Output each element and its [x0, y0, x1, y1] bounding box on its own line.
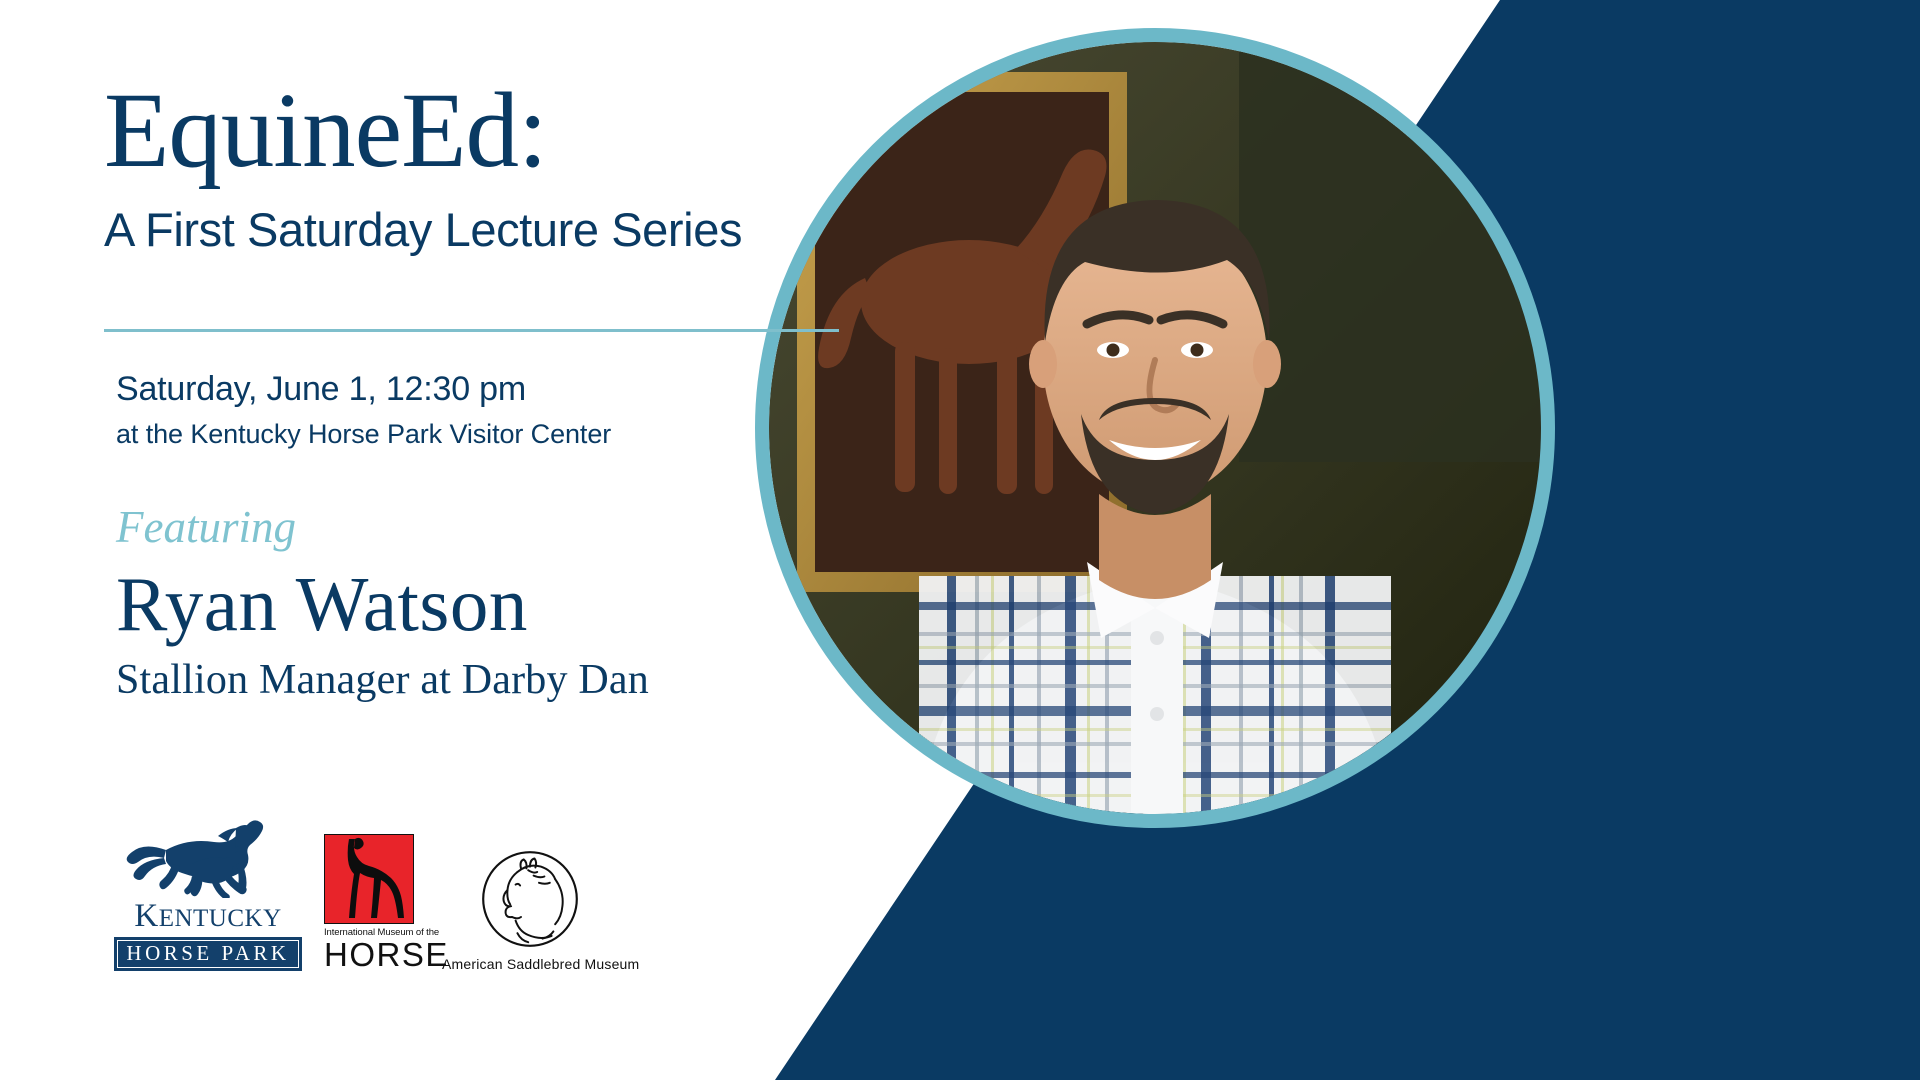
asm-word: American Saddlebred Museum	[442, 957, 617, 971]
poster-canvas: EquineEd: A First Saturday Lecture Serie…	[0, 0, 1920, 1080]
galloping-mare-and-foal-icon	[126, 820, 276, 898]
imh-big-line: HORSE	[324, 938, 420, 971]
speaker-name: Ryan Watson	[116, 564, 876, 645]
featuring-label: Featuring	[116, 505, 876, 550]
content-column: EquineEd: A First Saturday Lecture Serie…	[104, 0, 904, 1080]
horse-in-circle-line-art-icon	[476, 845, 584, 953]
partner-logos: KENTUCKY HORSE PARK International Museum…	[114, 820, 617, 971]
page-title: EquineEd:	[104, 78, 924, 185]
speaker-role: Stallion Manager at Darby Dan	[116, 657, 876, 703]
logo-american-saddlebred-museum: American Saddlebred Museum	[442, 845, 617, 971]
event-details: Saturday, June 1, 12:30 pm at the Kentuc…	[116, 368, 876, 452]
logo-kentucky-horse-park: KENTUCKY HORSE PARK	[114, 820, 302, 971]
logo-international-museum-of-the-horse: International Museum of the HORSE	[324, 834, 420, 972]
event-datetime: Saturday, June 1, 12:30 pm	[116, 368, 876, 412]
standing-horse-silhouette-icon	[325, 835, 413, 923]
page-subtitle: A First Saturday Lecture Series	[104, 203, 924, 258]
event-location: at the Kentucky Horse Park Visitor Cente…	[116, 416, 876, 452]
speaker-block: Featuring Ryan Watson Stallion Manager a…	[116, 505, 876, 703]
title-block: EquineEd: A First Saturday Lecture Serie…	[104, 78, 924, 258]
divider	[104, 329, 839, 332]
logo-kentucky-word: KENTUCKY	[114, 900, 302, 933]
logo-horse-park-bar: HORSE PARK	[114, 937, 302, 971]
imh-red-square	[324, 834, 414, 924]
logo-horse-park-word: HORSE PARK	[116, 943, 300, 964]
